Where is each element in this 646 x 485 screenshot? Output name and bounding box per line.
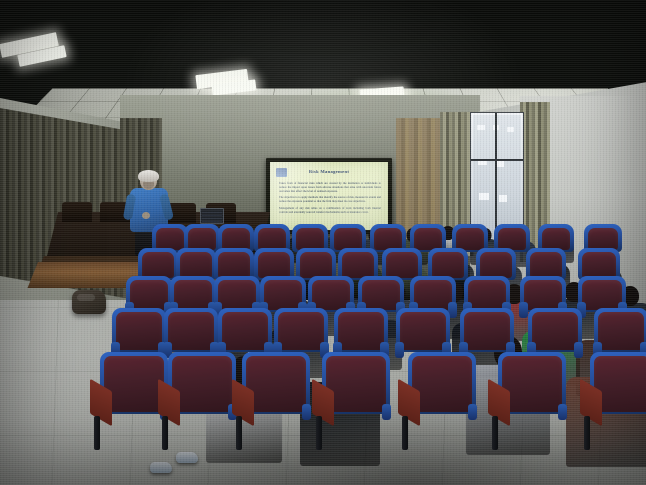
seat-back xyxy=(414,280,452,310)
auditorium-seat xyxy=(524,280,562,310)
auditorium-seat xyxy=(142,252,174,278)
seat-back xyxy=(582,252,616,278)
auditorium-seat xyxy=(326,356,386,412)
seat-back xyxy=(414,228,442,250)
auditorium-seat xyxy=(588,228,618,250)
auditorium-seat xyxy=(222,312,268,350)
auditorium-seat xyxy=(338,312,384,350)
seat-back xyxy=(130,280,168,310)
seat-armrest xyxy=(519,302,528,318)
auditorium-seat xyxy=(218,280,256,310)
backpack-on-floor xyxy=(72,290,106,314)
seat-back xyxy=(174,280,212,310)
seat-armrest xyxy=(558,404,567,420)
seat-armrest xyxy=(574,342,583,358)
auditorium-seat xyxy=(258,228,286,250)
auditorium-seat xyxy=(246,356,306,412)
seat-back xyxy=(338,312,384,350)
presenter-hair xyxy=(138,170,159,182)
auditorium-seat xyxy=(456,228,484,250)
auditorium-seat xyxy=(598,312,644,350)
seat-back xyxy=(168,312,214,350)
slide-paragraph: The objective is to apply methods that i… xyxy=(279,196,381,204)
seat-back xyxy=(188,228,216,250)
auditorium-seat xyxy=(116,312,162,350)
seat-back xyxy=(326,356,386,412)
seat-back xyxy=(300,252,332,278)
presenter-laptop xyxy=(200,208,224,224)
auditorium-seat xyxy=(264,280,302,310)
auditorium-seat xyxy=(342,252,374,278)
slide-title: Risk Management xyxy=(270,169,388,174)
seat-back xyxy=(246,356,306,412)
seat-leg xyxy=(402,416,408,450)
auditorium-seat xyxy=(594,356,646,412)
seat-back xyxy=(116,312,162,350)
seat-armrest xyxy=(468,404,477,420)
seat-back xyxy=(222,312,268,350)
seat-back xyxy=(374,228,402,250)
seat-armrest xyxy=(382,404,391,420)
seat-back xyxy=(456,228,484,250)
seat-back xyxy=(172,356,232,412)
auditorium-seat xyxy=(174,280,212,310)
auditorium-seat xyxy=(414,228,442,250)
seat-back xyxy=(312,280,350,310)
seat-back xyxy=(530,252,562,278)
auditorium-seat xyxy=(312,280,350,310)
seat-back xyxy=(264,280,302,310)
seat-back xyxy=(542,228,570,250)
seat-leg xyxy=(236,416,242,450)
seat-back xyxy=(104,356,164,412)
auditorium-seat xyxy=(374,228,402,250)
head-chair xyxy=(62,202,92,222)
projection-screen-surface: Risk Management Takes from of financial … xyxy=(270,162,388,230)
seat-back xyxy=(342,252,374,278)
auditorium-seat xyxy=(432,252,464,278)
seat-back xyxy=(432,252,464,278)
auditorium-seat xyxy=(542,228,570,250)
auditorium-seat xyxy=(172,356,232,412)
lecture-hall-photo: Risk Management Takes from of financial … xyxy=(0,0,646,485)
projection-screen-frame: Risk Management Takes from of financial … xyxy=(266,158,392,234)
seat-back xyxy=(480,252,512,278)
auditorium-seat xyxy=(362,280,400,310)
seat-leg xyxy=(94,416,100,450)
auditorium-seat xyxy=(180,252,212,278)
seat-leg xyxy=(584,416,590,450)
sneaker xyxy=(176,452,198,463)
seat-back xyxy=(296,228,324,250)
auditorium-seat xyxy=(278,312,324,350)
seat-back xyxy=(386,252,418,278)
auditorium-seat xyxy=(386,252,418,278)
seat-back xyxy=(588,228,618,250)
auditorium-seat xyxy=(188,228,216,250)
auditorium-seat xyxy=(412,356,472,412)
seat-back xyxy=(468,280,506,310)
auditorium-seat xyxy=(156,228,184,250)
auditorium-seat xyxy=(582,280,622,310)
auditorium-seat xyxy=(218,252,250,278)
seat-back xyxy=(498,228,526,250)
seat-leg xyxy=(492,416,498,450)
auditorium-seat xyxy=(296,228,324,250)
seat-back xyxy=(524,280,562,310)
auditorium-seat xyxy=(104,356,164,412)
auditorium-seat xyxy=(582,252,616,278)
slide-paragraph: Management of any risk relies on a combi… xyxy=(279,207,381,215)
seat-back xyxy=(142,252,174,278)
seat-back xyxy=(334,228,362,250)
sneaker xyxy=(150,462,172,473)
seat-back xyxy=(502,356,562,412)
auditorium-seat xyxy=(468,280,506,310)
seat-back xyxy=(362,280,400,310)
seat-back xyxy=(218,280,256,310)
seat-back xyxy=(258,252,290,278)
seat-back xyxy=(156,228,184,250)
seat-back xyxy=(412,356,472,412)
auditorium-seat xyxy=(464,312,510,350)
seat-armrest xyxy=(302,404,311,420)
seat-leg xyxy=(316,416,322,450)
seat-back xyxy=(464,312,510,350)
slide-body-text: Takes from of financial risks which are … xyxy=(279,182,381,217)
auditorium-seat xyxy=(532,312,578,350)
auditorium-seat xyxy=(400,312,446,350)
auditorium-seat xyxy=(480,252,512,278)
auditorium-seat xyxy=(334,228,362,250)
window-mullion-h xyxy=(471,159,523,161)
seat-leg xyxy=(162,416,168,450)
auditorium-seat xyxy=(258,252,290,278)
seat-armrest xyxy=(395,342,404,358)
auditorium-seat xyxy=(530,252,562,278)
seat-back xyxy=(532,312,578,350)
seat-back xyxy=(258,228,286,250)
seat-back xyxy=(598,312,644,350)
auditorium-seat xyxy=(168,312,214,350)
auditorium-seat xyxy=(498,228,526,250)
seat-back xyxy=(218,252,250,278)
auditorium-seat xyxy=(130,280,168,310)
seat-back xyxy=(222,228,250,250)
seat-back xyxy=(278,312,324,350)
auditorium-seat xyxy=(300,252,332,278)
seat-back xyxy=(582,280,622,310)
auditorium-seat xyxy=(222,228,250,250)
presenter-hand xyxy=(142,212,150,219)
seat-back xyxy=(400,312,446,350)
seat-back xyxy=(180,252,212,278)
slide-paragraph: Takes from of financial risks which are … xyxy=(279,182,381,194)
auditorium-seat xyxy=(414,280,452,310)
auditorium-seat xyxy=(502,356,562,412)
